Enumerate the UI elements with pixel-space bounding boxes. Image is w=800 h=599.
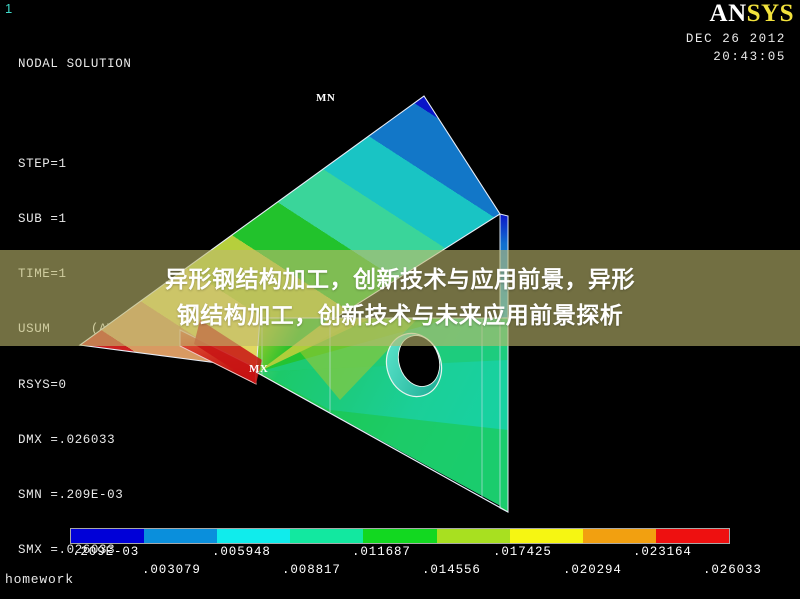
node-label-mx: MX — [249, 363, 268, 375]
overlay-line-2: 钢结构加工，创新技术与未来应用前景探析 — [177, 301, 624, 331]
contour-tick-label-top-3: .011687 — [352, 545, 411, 559]
contour-band-2 — [144, 529, 217, 543]
jobname-footer: homework — [5, 572, 74, 587]
contour-band-3 — [217, 529, 290, 543]
contour-tick-label-bottom-3: .014556 — [422, 563, 481, 577]
contour-band-9 — [656, 529, 729, 543]
overlay-caption-banner: 异形钢结构加工，创新技术与应用前景，异形 钢结构加工，创新技术与未来应用前景探析 — [0, 250, 800, 346]
contour-tick-label-bottom-2: .008817 — [282, 563, 341, 577]
contour-band-8 — [583, 529, 656, 543]
node-label-mn: MN — [316, 92, 335, 104]
overlay-line-1: 异形钢结构加工，创新技术与应用前景，异形 — [165, 265, 635, 295]
contour-band-1 — [71, 529, 144, 543]
contour-tick-label-top-5: .023164 — [633, 545, 692, 559]
contour-band-7 — [510, 529, 583, 543]
contour-tick-label-bottom-1: .003079 — [142, 563, 201, 577]
contour-tick-label-bottom-4: .020294 — [563, 563, 622, 577]
ansys-graphics-window: 1 NODAL SOLUTION STEP=1 SUB =1 TIME=1 US… — [0, 0, 800, 599]
contour-tick-label-bottom-5: .026033 — [703, 563, 762, 577]
contour-tick-label-top-1: .209E-03 — [72, 545, 139, 559]
contour-color-bar[interactable] — [70, 528, 730, 544]
contour-band-5 — [363, 529, 436, 543]
contour-band-6 — [437, 529, 510, 543]
contour-tick-label-top-4: .017425 — [493, 545, 552, 559]
contour-band-4 — [290, 529, 363, 543]
contour-bar-labels: .209E-03.005948.011687.017425.023164.003… — [0, 545, 800, 585]
contour-tick-label-top-2: .005948 — [212, 545, 271, 559]
